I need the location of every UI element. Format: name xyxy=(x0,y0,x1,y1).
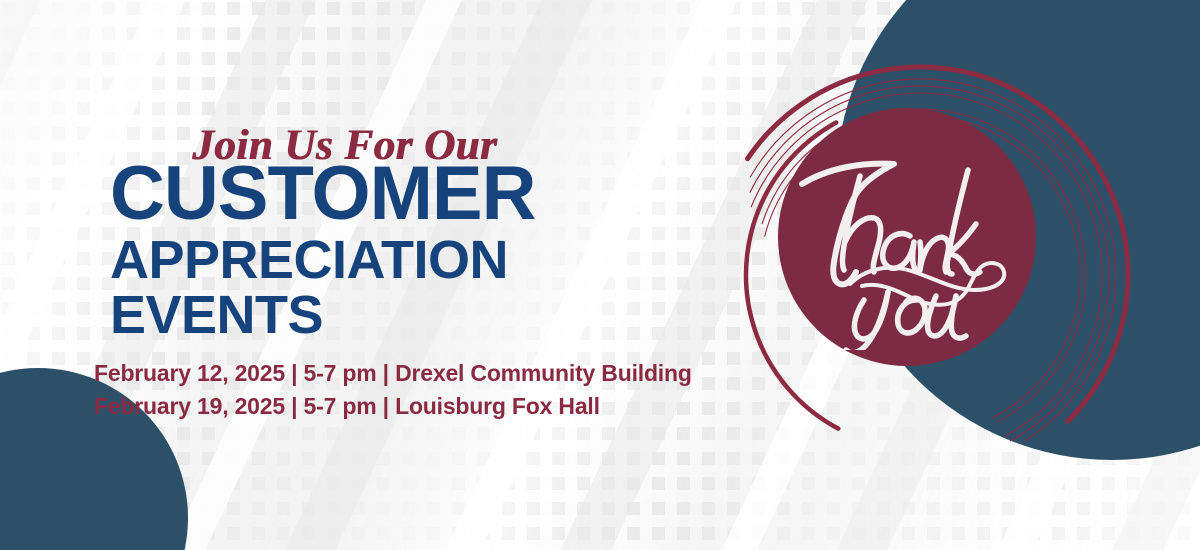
event-list-item: February 12, 2025 | 5-7 pm | Drexel Comm… xyxy=(94,357,732,390)
eyebrow-text: Join Us For Our xyxy=(192,124,732,167)
headline-block: Join Us For Our CUSTOMER APPRECIATION EV… xyxy=(92,124,732,422)
headline-line-2: APPRECIATION EVENTS xyxy=(110,233,732,343)
headline-line-1: CUSTOMER xyxy=(110,159,732,229)
event-list-item: February 19, 2025 | 5-7 pm | Louisburg F… xyxy=(94,390,732,423)
event-promo-banner: Thank you Join Us For xyxy=(0,0,1200,550)
thank-you-script-lettering: Thank you xyxy=(790,150,1030,350)
event-list: February 12, 2025 | 5-7 pm | Drexel Comm… xyxy=(94,357,732,422)
